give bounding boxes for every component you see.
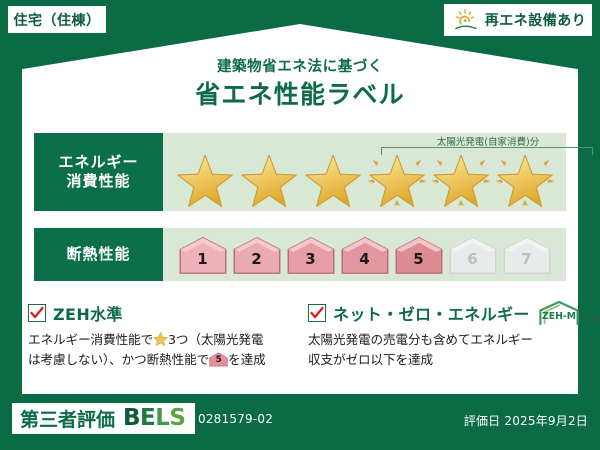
bels-logo: BELS: [123, 407, 185, 430]
net-zero-criterion-title: ネット・ゼロ・エネルギー: [333, 301, 530, 325]
insulation-grade-3: 3: [285, 235, 337, 275]
sun-icon: [452, 8, 480, 32]
zeh-m-logo: ZEH-M: [537, 300, 581, 326]
footer-bar: 第三者評価 BELS 0281579-02 評価日 2025年9月2日: [0, 394, 600, 450]
page-title: 省エネ性能ラベル: [0, 75, 600, 111]
zeh-criterion-title: ZEH水準: [53, 301, 123, 325]
zeh-m-logo-caption: [ZEH-M]: [589, 316, 600, 323]
insulation-performance-row: 断熱性能 1 2 3 4 5: [34, 228, 566, 281]
net-zero-checkbox[interactable]: [308, 304, 326, 322]
renewable-equipment-text: 再エネ設備あり: [485, 10, 587, 30]
dwelling-type-chip: 住宅（住棟）: [8, 6, 106, 33]
insulation-performance-band: 1 2 3 4 5 6 7: [163, 228, 566, 281]
star-icon: [238, 150, 300, 208]
solar-annotation-text: 太陽光発電(自家消費)分: [379, 134, 597, 148]
inline-star-icon: [153, 332, 168, 346]
bels-plate: 第三者評価 BELS: [12, 403, 195, 434]
star-5: [430, 150, 492, 208]
star-4: [366, 150, 428, 208]
zeh-criterion-body: エネルギー消費性能で 3つ（太陽光発電 は考慮しない）、かつ断熱性能で 5 を達…: [28, 330, 296, 369]
dwelling-type-text: 住宅（住棟）: [14, 10, 101, 30]
net-zero-criterion-block: ネット・ゼロ・エネルギー ZEH-M [ZEH-M] 太陽光発電の売電分も含めて…: [308, 302, 576, 369]
energy-performance-row: エネルギー 消費性能 太陽光発電(自家消費)分: [34, 133, 566, 211]
bels-letter-s: S: [169, 405, 185, 431]
net-zero-criterion-header: ネット・ゼロ・エネルギー ZEH-M [ZEH-M]: [308, 302, 576, 324]
insulation-grade-value: 5: [393, 235, 445, 275]
energy-performance-label: 住宅（住棟） 再エネ設備あり 建築物省エネ法に基づく 省エネ性能ラベル エネルギ…: [0, 0, 600, 450]
zeh-m-house-icon: ZEH-M: [537, 300, 581, 326]
star-rating-group: [163, 149, 566, 209]
bels-letter-e: E: [140, 405, 155, 431]
third-party-evaluation-text: 第三者評価: [20, 405, 115, 432]
zeh-body-part1: エネルギー消費性能で: [28, 332, 153, 347]
insulation-grade-7: 7: [501, 235, 553, 275]
star-3: [302, 150, 364, 208]
insulation-grade-6: 6: [447, 235, 499, 275]
energy-label-line2: 消費性能: [66, 172, 130, 191]
star-2: [238, 150, 300, 208]
net-zero-criterion-body: 太陽光発電の売電分も含めてエネルギー 収支がゼロ以下を達成: [308, 330, 576, 369]
star-6: [494, 150, 556, 208]
net-zero-body-line2: 収支がゼロ以下を達成: [308, 352, 433, 367]
zeh-body-part4: を達成: [228, 352, 265, 367]
insulation-grade-value: 3: [285, 235, 337, 275]
insulation-grade-5: 5: [393, 235, 445, 275]
insulation-label-line1: 断熱性能: [66, 245, 130, 264]
star-icon: [302, 150, 364, 208]
bels-letter-b: B: [123, 405, 140, 431]
energy-performance-band: 太陽光発電(自家消費)分: [163, 133, 566, 211]
label-subtitle: 建築物省エネ法に基づく: [0, 55, 600, 76]
insulation-grade-group: 1 2 3 4 5 6 7: [163, 228, 566, 281]
insulation-grade-value: 1: [177, 235, 229, 275]
star-icon: [494, 150, 556, 208]
insulation-grade-value: 4: [339, 235, 391, 275]
star-icon: [174, 150, 236, 208]
renewable-equipment-chip: 再エネ設備あり: [444, 4, 592, 36]
insulation-grade-value: 7: [501, 235, 553, 275]
zeh-body-part3: は考慮しない）、かつ断熱性能で: [28, 352, 209, 367]
zeh-body-part2: 3つ（太陽光発電: [168, 332, 263, 347]
energy-label-line1: エネルギー: [58, 153, 138, 172]
check-icon: [310, 306, 324, 320]
evaluation-date: 評価日 2025年9月2日: [464, 412, 588, 429]
zeh-checkbox[interactable]: [28, 304, 46, 322]
insulation-grade-4: 4: [339, 235, 391, 275]
zeh-m-logo-text: ZEH-M: [542, 311, 576, 322]
inline-grade-value: 5: [209, 352, 228, 367]
inline-grade-badge: 5: [209, 352, 228, 367]
insulation-grade-2: 2: [231, 235, 283, 275]
insulation-performance-label-box: 断熱性能: [34, 228, 163, 281]
star-1: [174, 150, 236, 208]
zeh-criterion-header: ZEH水準: [28, 302, 296, 324]
energy-performance-label-box: エネルギー 消費性能: [34, 133, 163, 211]
zeh-criterion-block: ZEH水準 エネルギー消費性能で 3つ（太陽光発電 は考慮しない）、かつ断熱性能…: [28, 302, 296, 369]
star-icon: [430, 150, 492, 208]
net-zero-body-line1: 太陽光発電の売電分も含めてエネルギー: [308, 332, 533, 347]
certificate-number: 0281579-02: [198, 412, 273, 426]
insulation-grade-value: 2: [231, 235, 283, 275]
star-icon: [366, 150, 428, 208]
insulation-grade-1: 1: [177, 235, 229, 275]
bels-letter-l: L: [155, 405, 169, 431]
insulation-grade-value: 6: [447, 235, 499, 275]
check-icon: [30, 306, 44, 320]
